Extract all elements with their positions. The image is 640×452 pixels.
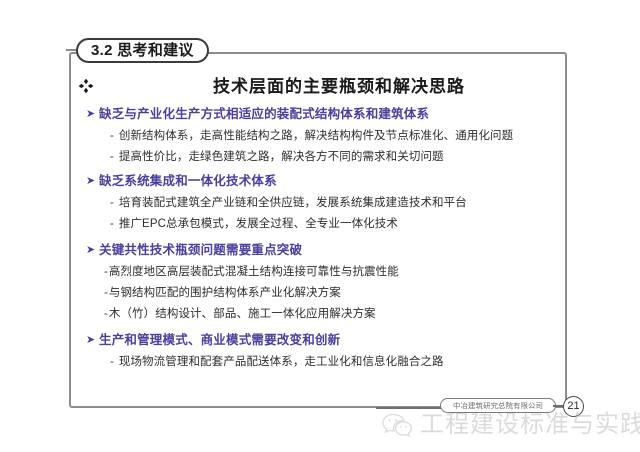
watermark: 工程建设标准与实践	[382, 412, 640, 438]
list-item: - 推广EPC总承包模式，发展全过程、全专业一体化技术	[86, 216, 556, 233]
arrow-right-bullet-icon: ➤	[86, 332, 99, 348]
arrow-right-bullet-icon: ➤	[86, 106, 99, 122]
wechat-logo-icon	[382, 412, 412, 438]
four-diamond-bullet-icon	[78, 78, 94, 94]
section-tab: 3.2 思考和建议	[76, 38, 209, 63]
dash-bullet-icon: -	[110, 149, 119, 166]
footer-rule	[376, 407, 442, 409]
dash-bullet-icon: -	[110, 216, 119, 233]
list-item: - 高烈度地区高层装配式混凝土结构连接可靠性与抗震性能	[86, 264, 556, 281]
list-item: - 提高性价比，走绿色建筑之路，解决各方不同的需求和关切问题	[86, 149, 556, 166]
arrow-right-bullet-icon: ➤	[86, 173, 99, 189]
group-heading-label: 关键共性技术瓶颈问题需要重点突破	[99, 242, 302, 258]
group-heading-label: 缺乏系统集成和一体化技术体系	[99, 173, 277, 189]
dash-bullet-icon: -	[110, 354, 119, 371]
company-badge: 中冶建筑研究总院有限公司	[440, 398, 556, 413]
company-name-label: 中冶建筑研究总院有限公司	[453, 402, 543, 409]
list-item-label: 提高性价比，走绿色建筑之路，解决各方不同的需求和关切问题	[119, 149, 444, 166]
list-item: - 木（竹）结构设计、部品、施工一体化应用解决方案	[86, 306, 556, 323]
page-number-label: 21	[567, 401, 579, 412]
list-item-label: 高烈度地区高层装配式混凝土结构连接可靠性与抗震性能	[109, 264, 399, 281]
list-item-label: 木（竹）结构设计、部品、施工一体化应用解决方案	[109, 306, 376, 323]
slide-canvas: 3.2 思考和建议 技术层面的主要瓶颈和解决思路 ➤ 缺乏与产业化生产方式相适应…	[0, 0, 640, 452]
list-item-label: 与钢结构匹配的围护结构体系产业化解决方案	[109, 285, 341, 302]
group-heading-label: 生产和管理模式、商业模式需要改变和创新	[99, 332, 340, 348]
group-heading: ➤ 关键共性技术瓶颈问题需要重点突破	[86, 242, 556, 258]
group-heading: ➤ 缺乏与产业化生产方式相适应的装配式结构体系和建筑体系	[86, 106, 556, 122]
content-group: ➤ 关键共性技术瓶颈问题需要重点突破 - 高烈度地区高层装配式混凝土结构连接可靠…	[86, 242, 556, 323]
list-item: - 创新结构体系，走高性能结构之路，解决结构构件及节点标准化、通用化问题	[86, 128, 556, 145]
content-group: ➤ 缺乏与产业化生产方式相适应的装配式结构体系和建筑体系 - 创新结构体系，走高…	[86, 106, 556, 166]
list-item: - 培育装配式建筑全产业链和全供应链，发展系统集成建造技术和平台	[86, 195, 556, 212]
content-group: ➤ 缺乏系统集成和一体化技术体系 - 培育装配式建筑全产业链和全供应链，发展系统…	[86, 173, 556, 233]
list-item: - 现场物流管理和配套产品配送体系，走工业化和信息化融合之路	[86, 354, 556, 371]
page-title: 技术层面的主要瓶颈和解决思路	[134, 72, 544, 97]
arrow-right-bullet-icon: ➤	[86, 242, 99, 258]
list-item: - 与钢结构匹配的围护结构体系产业化解决方案	[86, 285, 556, 302]
list-item-label: 推广EPC总承包模式，发展全过程、全专业一体化技术	[119, 216, 398, 233]
title-row: 技术层面的主要瓶颈和解决思路	[78, 70, 558, 102]
dash-bullet-icon: -	[110, 195, 119, 212]
list-item-label: 培育装配式建筑全产业链和全供应链，发展系统集成建造技术和平台	[119, 195, 467, 212]
group-heading-label: 缺乏与产业化生产方式相适应的装配式结构体系和建筑体系	[99, 106, 429, 122]
list-item-label: 创新结构体系，走高性能结构之路，解决结构构件及节点标准化、通用化问题	[119, 128, 513, 145]
page-number-badge: 21	[563, 396, 584, 417]
dash-bullet-icon: -	[110, 128, 119, 145]
list-item-label: 现场物流管理和配套产品配送体系，走工业化和信息化融合之路	[119, 354, 444, 371]
group-heading: ➤ 生产和管理模式、商业模式需要改变和创新	[86, 332, 556, 348]
content-body: ➤ 缺乏与产业化生产方式相适应的装配式结构体系和建筑体系 - 创新结构体系，走高…	[86, 106, 556, 378]
watermark-label: 工程建设标准与实践	[420, 413, 640, 437]
section-tab-label: 3.2 思考和建议	[91, 43, 194, 58]
group-heading: ➤ 缺乏系统集成和一体化技术体系	[86, 173, 556, 189]
content-group: ➤ 生产和管理模式、商业模式需要改变和创新 - 现场物流管理和配套产品配送体系，…	[86, 332, 556, 371]
